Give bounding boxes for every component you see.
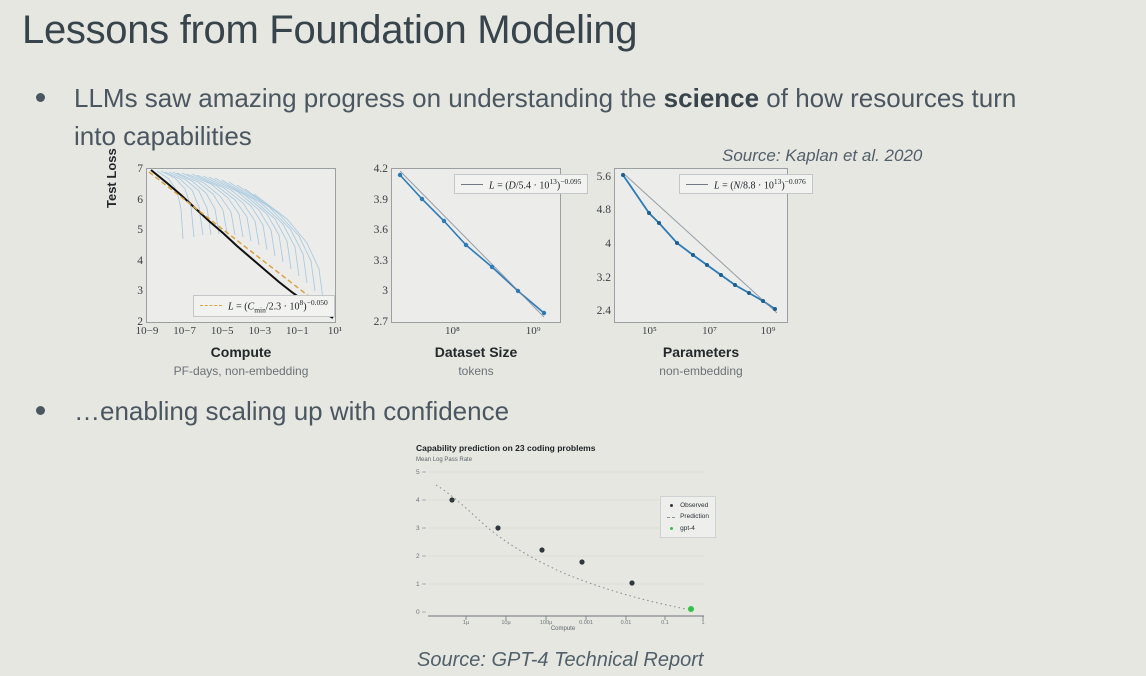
legend-label: Observed bbox=[680, 500, 708, 511]
chart-dataset-xlabel-sub: tokens bbox=[391, 364, 561, 378]
chart-compute-plot-area: 7 6 5 4 3 2 10−9 10−7 10−5 10−3 10−1 10¹ bbox=[146, 168, 336, 323]
page-title: Lessons from Foundation Modeling bbox=[22, 8, 637, 52]
compute-fit-line bbox=[149, 172, 333, 315]
ytick: 6 bbox=[137, 194, 143, 206]
svg-text:2: 2 bbox=[416, 553, 420, 560]
ytick: 7 bbox=[137, 163, 143, 175]
source-kaplan: Source: Kaplan et al. 2020 bbox=[722, 146, 922, 166]
bullet-2-text: …enabling scaling up with confidence bbox=[74, 393, 509, 431]
svg-text:3: 3 bbox=[416, 525, 420, 532]
chart-dataset-scaling: 4.2 3.9 3.6 3.3 3 2.7 10⁸ 10⁹ bbox=[353, 168, 561, 323]
gpt4-dot-icon bbox=[667, 523, 675, 534]
gpt4-chart-title: Capability prediction on 23 coding probl… bbox=[416, 443, 714, 453]
gpt4-legend: Observed Prediction gpt-4 bbox=[660, 496, 716, 538]
legend-label: Prediction bbox=[680, 511, 709, 522]
legend-solid-line-icon bbox=[686, 184, 708, 185]
xtick: 10−9 bbox=[136, 325, 159, 337]
chart-compute-scaling: Test Loss 7 6 5 4 3 2 10−9 10−7 10−5 10−… bbox=[108, 168, 336, 323]
svg-text:1: 1 bbox=[416, 581, 420, 588]
legend-label: gpt-4 bbox=[680, 523, 695, 534]
chart-compute-xlabel-sub: PF-days, non-embedding bbox=[146, 364, 336, 378]
xtick: 10⁷ bbox=[702, 325, 717, 337]
chart-compute-legend: L = (Cmin/2.3 · 108)−0.050 bbox=[193, 295, 335, 317]
bullet-dot-icon bbox=[36, 406, 45, 415]
gpt4-chart-xlabel: Compute bbox=[414, 626, 712, 632]
observed-dot-icon bbox=[667, 500, 675, 511]
ytick: 3.3 bbox=[374, 255, 388, 267]
chart-dataset-plot-area: 4.2 3.9 3.6 3.3 3 2.7 10⁸ 10⁹ bbox=[391, 168, 561, 323]
ytick: 2.4 bbox=[597, 305, 611, 317]
bullet-1-text: LLMs saw amazing progress on understandi… bbox=[74, 80, 1064, 155]
ytick: 4.2 bbox=[374, 163, 388, 175]
ytick: 4.8 bbox=[597, 204, 611, 216]
ytick: 4 bbox=[137, 255, 143, 267]
gpt4-plot-svg: 5 4 3 2 1 0 bbox=[414, 464, 712, 624]
xtick: 10⁹ bbox=[761, 325, 776, 337]
gpt4-prediction-curve bbox=[436, 485, 686, 609]
ytick: 3.9 bbox=[374, 194, 388, 206]
legend-item-gpt4: gpt-4 bbox=[667, 523, 709, 534]
kaplan-scaling-figure: Test Loss 7 6 5 4 3 2 10−9 10−7 10−5 10−… bbox=[108, 168, 813, 373]
ytick: 5 bbox=[137, 224, 143, 236]
ytick: 4 bbox=[605, 238, 611, 250]
bullet-dot-icon bbox=[36, 93, 45, 102]
bullet-1-emphasis: science bbox=[664, 83, 759, 113]
ytick: 3 bbox=[382, 285, 388, 297]
ytick: 2.7 bbox=[374, 316, 388, 328]
svg-text:4: 4 bbox=[416, 497, 420, 504]
legend-dashed-line-icon bbox=[200, 305, 222, 306]
legend-item-prediction: Prediction bbox=[667, 511, 709, 522]
chart-compute-xlabel: Compute bbox=[146, 344, 336, 360]
gpt4-capability-chart: Capability prediction on 23 coding probl… bbox=[414, 443, 714, 648]
bullet-1-part-a: LLMs saw amazing progress on understandi… bbox=[74, 83, 664, 113]
xtick: 10−5 bbox=[211, 325, 234, 337]
xtick: 10−1 bbox=[286, 325, 309, 337]
legend-solid-line-icon bbox=[461, 184, 483, 185]
gpt4-point bbox=[688, 606, 694, 612]
xtick: 10−7 bbox=[173, 325, 196, 337]
chart-dataset-xlabel: Dataset Size bbox=[391, 344, 561, 360]
legend-item-observed: Observed bbox=[667, 500, 709, 511]
ytick: 5.6 bbox=[597, 171, 611, 183]
xtick: 10−3 bbox=[248, 325, 271, 337]
prediction-dashed-icon bbox=[667, 511, 675, 522]
legend-label: L = (D/5.4 · 1013)−0.095 bbox=[489, 177, 581, 191]
chart-parameters-plot-area: 5.6 4.8 4 3.2 2.4 10⁵ 10⁷ 10⁹ bbox=[614, 168, 788, 323]
chart-parameters-xlabel: Parameters bbox=[614, 344, 788, 360]
chart-parameters-xlabel-sub: non-embedding bbox=[614, 364, 788, 378]
svg-text:0: 0 bbox=[416, 609, 420, 616]
gpt4-plot-area: 5 4 3 2 1 0 bbox=[414, 464, 712, 639]
xtick: 10⁵ bbox=[642, 325, 657, 337]
bullet-item-2: …enabling scaling up with confidence bbox=[36, 393, 509, 431]
source-gpt4: Source: GPT-4 Technical Report bbox=[417, 649, 703, 672]
ytick: 3.6 bbox=[374, 224, 388, 236]
bullet-item-1: LLMs saw amazing progress on understandi… bbox=[36, 80, 1064, 155]
xtick: 10⁸ bbox=[445, 325, 460, 337]
svg-text:5: 5 bbox=[416, 469, 420, 476]
xtick: 10¹ bbox=[328, 325, 342, 337]
gpt4-chart-ylabel: Mean Log Pass Rate bbox=[416, 457, 714, 463]
slide: Lessons from Foundation Modeling LLMs sa… bbox=[0, 0, 1146, 676]
chart-parameters-legend: L = (N/8.8 · 1013)−0.076 bbox=[679, 174, 813, 194]
ytick: 3 bbox=[137, 285, 143, 297]
xtick: 10⁹ bbox=[526, 325, 541, 337]
chart-dataset-legend: L = (D/5.4 · 1013)−0.095 bbox=[454, 174, 588, 194]
legend-label: L = (N/8.8 · 1013)−0.076 bbox=[714, 177, 806, 191]
ytick: 3.2 bbox=[597, 272, 611, 284]
chart-compute-ylabel: Test Loss bbox=[104, 148, 119, 208]
gpt4-observed-points bbox=[449, 497, 634, 585]
legend-label: L = (Cmin/2.3 · 108)−0.050 bbox=[228, 298, 328, 314]
chart-parameters-scaling: 5.6 4.8 4 3.2 2.4 10⁵ 10⁷ 10⁹ bbox=[576, 168, 788, 323]
